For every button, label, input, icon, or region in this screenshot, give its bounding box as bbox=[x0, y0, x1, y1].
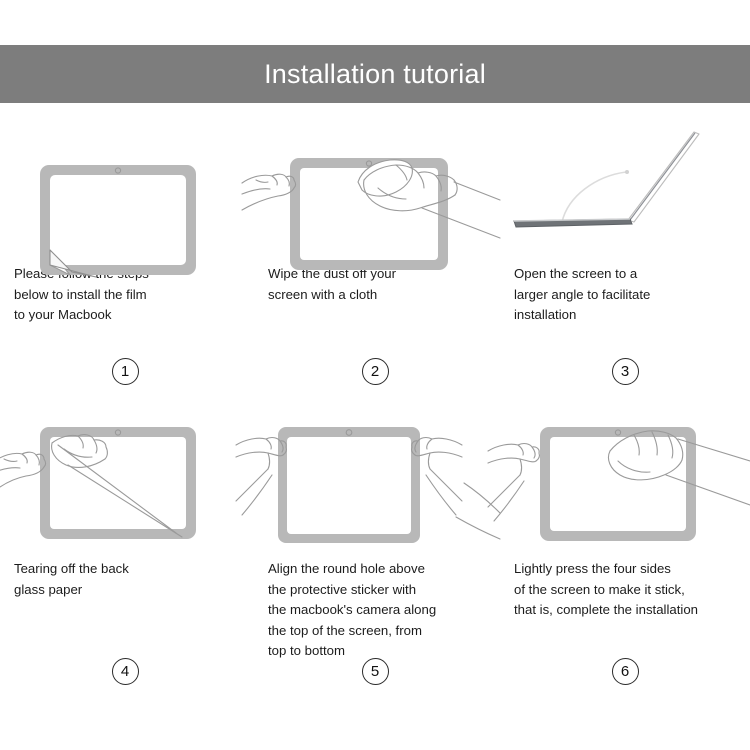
step-6-text: Lightly press the four sides of the scre… bbox=[500, 559, 750, 621]
left-hand-icon bbox=[0, 452, 46, 493]
step-card-1: Please follow the steps below to install… bbox=[0, 110, 250, 405]
step-card-2: Wipe the dust off your screen with a clo… bbox=[250, 110, 500, 405]
step-number-badge: 3 bbox=[612, 358, 639, 385]
laptop-base-icon bbox=[514, 219, 632, 227]
opening-angle-arc-icon bbox=[562, 170, 629, 222]
step-2-illustration bbox=[250, 110, 500, 260]
screen-bezel-icon bbox=[540, 427, 696, 541]
step-1-number-wrap: 1 bbox=[0, 358, 250, 385]
step-1-illustration bbox=[0, 110, 250, 260]
step-card-6: Lightly press the four sides of the scre… bbox=[500, 405, 750, 705]
step-3-illustration bbox=[500, 110, 750, 260]
step-number-badge: 5 bbox=[362, 658, 389, 685]
step-card-4: Tearing off the back glass paper 4 bbox=[0, 405, 250, 705]
step-5-illustration bbox=[250, 405, 500, 555]
installation-tutorial-page: Installation tutorial bbox=[0, 0, 750, 750]
step-3-number-wrap: 3 bbox=[500, 358, 750, 385]
step-5-number-wrap: 5 bbox=[250, 658, 500, 685]
left-hand-icon bbox=[242, 174, 296, 210]
laptop-lid-icon bbox=[628, 132, 699, 222]
header-bar: Installation tutorial bbox=[0, 45, 750, 103]
step-4-number-wrap: 4 bbox=[0, 658, 250, 685]
step-number-badge: 2 bbox=[362, 358, 389, 385]
screen-bezel-icon bbox=[40, 165, 196, 275]
step-6-number-wrap: 6 bbox=[500, 658, 750, 685]
screen-bezel-icon bbox=[40, 427, 196, 539]
step-3-text: Open the screen to a larger angle to fac… bbox=[500, 264, 750, 326]
step-6-illustration bbox=[500, 405, 750, 555]
step-2-number-wrap: 2 bbox=[250, 358, 500, 385]
step-5-text: Align the round hole above the protectiv… bbox=[250, 559, 500, 662]
screen-bezel-icon bbox=[278, 427, 420, 543]
steps-grid: Please follow the steps below to install… bbox=[0, 110, 750, 705]
right-hand-icon bbox=[412, 438, 500, 539]
step-number-badge: 1 bbox=[112, 358, 139, 385]
step-4-text: Tearing off the back glass paper bbox=[0, 559, 250, 600]
page-title: Installation tutorial bbox=[264, 61, 486, 88]
step-2-text: Wipe the dust off your screen with a clo… bbox=[250, 264, 500, 305]
step-number-badge: 6 bbox=[612, 658, 639, 685]
step-card-3: Open the screen to a larger angle to fac… bbox=[500, 110, 750, 405]
step-4-illustration bbox=[0, 405, 250, 555]
step-number-badge: 4 bbox=[112, 658, 139, 685]
step-card-5: Align the round hole above the protectiv… bbox=[250, 405, 500, 705]
